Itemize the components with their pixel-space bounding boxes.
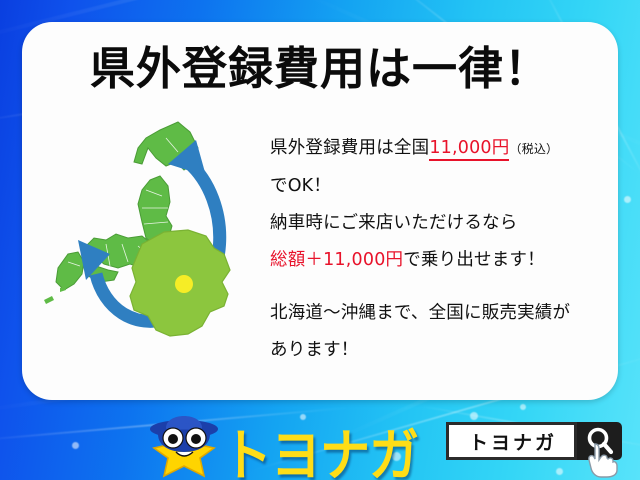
page-title: 県外登録費用は一律！ bbox=[22, 46, 618, 91]
pointer-hand-cursor-icon bbox=[586, 442, 620, 478]
copy-line-2: でOK！ bbox=[270, 168, 610, 205]
body-copy: 県外登録費用は全国11,000円（税込） でOK！ 納車時にご来店いただけるなら… bbox=[270, 130, 610, 369]
location-marker bbox=[175, 275, 193, 293]
promo-banner: 県外登録費用は一律！ bbox=[0, 0, 640, 480]
search-input[interactable]: トヨナガ bbox=[446, 422, 577, 460]
price-highlight: 11,000円 bbox=[429, 138, 509, 161]
brand-bar: トヨナガ トヨナガ bbox=[0, 402, 640, 480]
copy-line-4: 総額＋11,000円で乗り出せます！ bbox=[270, 242, 610, 279]
brand-wordmark: トヨナガ bbox=[222, 411, 418, 480]
total-price-highlight: 総額＋11,000円 bbox=[270, 250, 403, 270]
copy-line-3: 納車時にご来店いただけるなら bbox=[270, 205, 610, 242]
tax-note: （税込） bbox=[509, 142, 558, 156]
copy-spacer bbox=[270, 279, 610, 295]
copy-line-1: 県外登録費用は全国11,000円（税込） bbox=[270, 130, 610, 168]
copy-line-6: あります！ bbox=[270, 332, 610, 369]
copy-line-4-rest: で乗り出せます！ bbox=[403, 250, 545, 270]
copy-line-1-pre: 県外登録費用は全国 bbox=[270, 138, 429, 158]
copy-line-5: 北海道〜沖縄まで、全国に販売実績が bbox=[270, 295, 610, 332]
toyonaga-mascot-icon bbox=[142, 404, 226, 478]
japan-map-illustration bbox=[38, 104, 268, 384]
content-card: 県外登録費用は一律！ bbox=[22, 22, 618, 400]
search-input-value: トヨナガ bbox=[466, 428, 557, 455]
